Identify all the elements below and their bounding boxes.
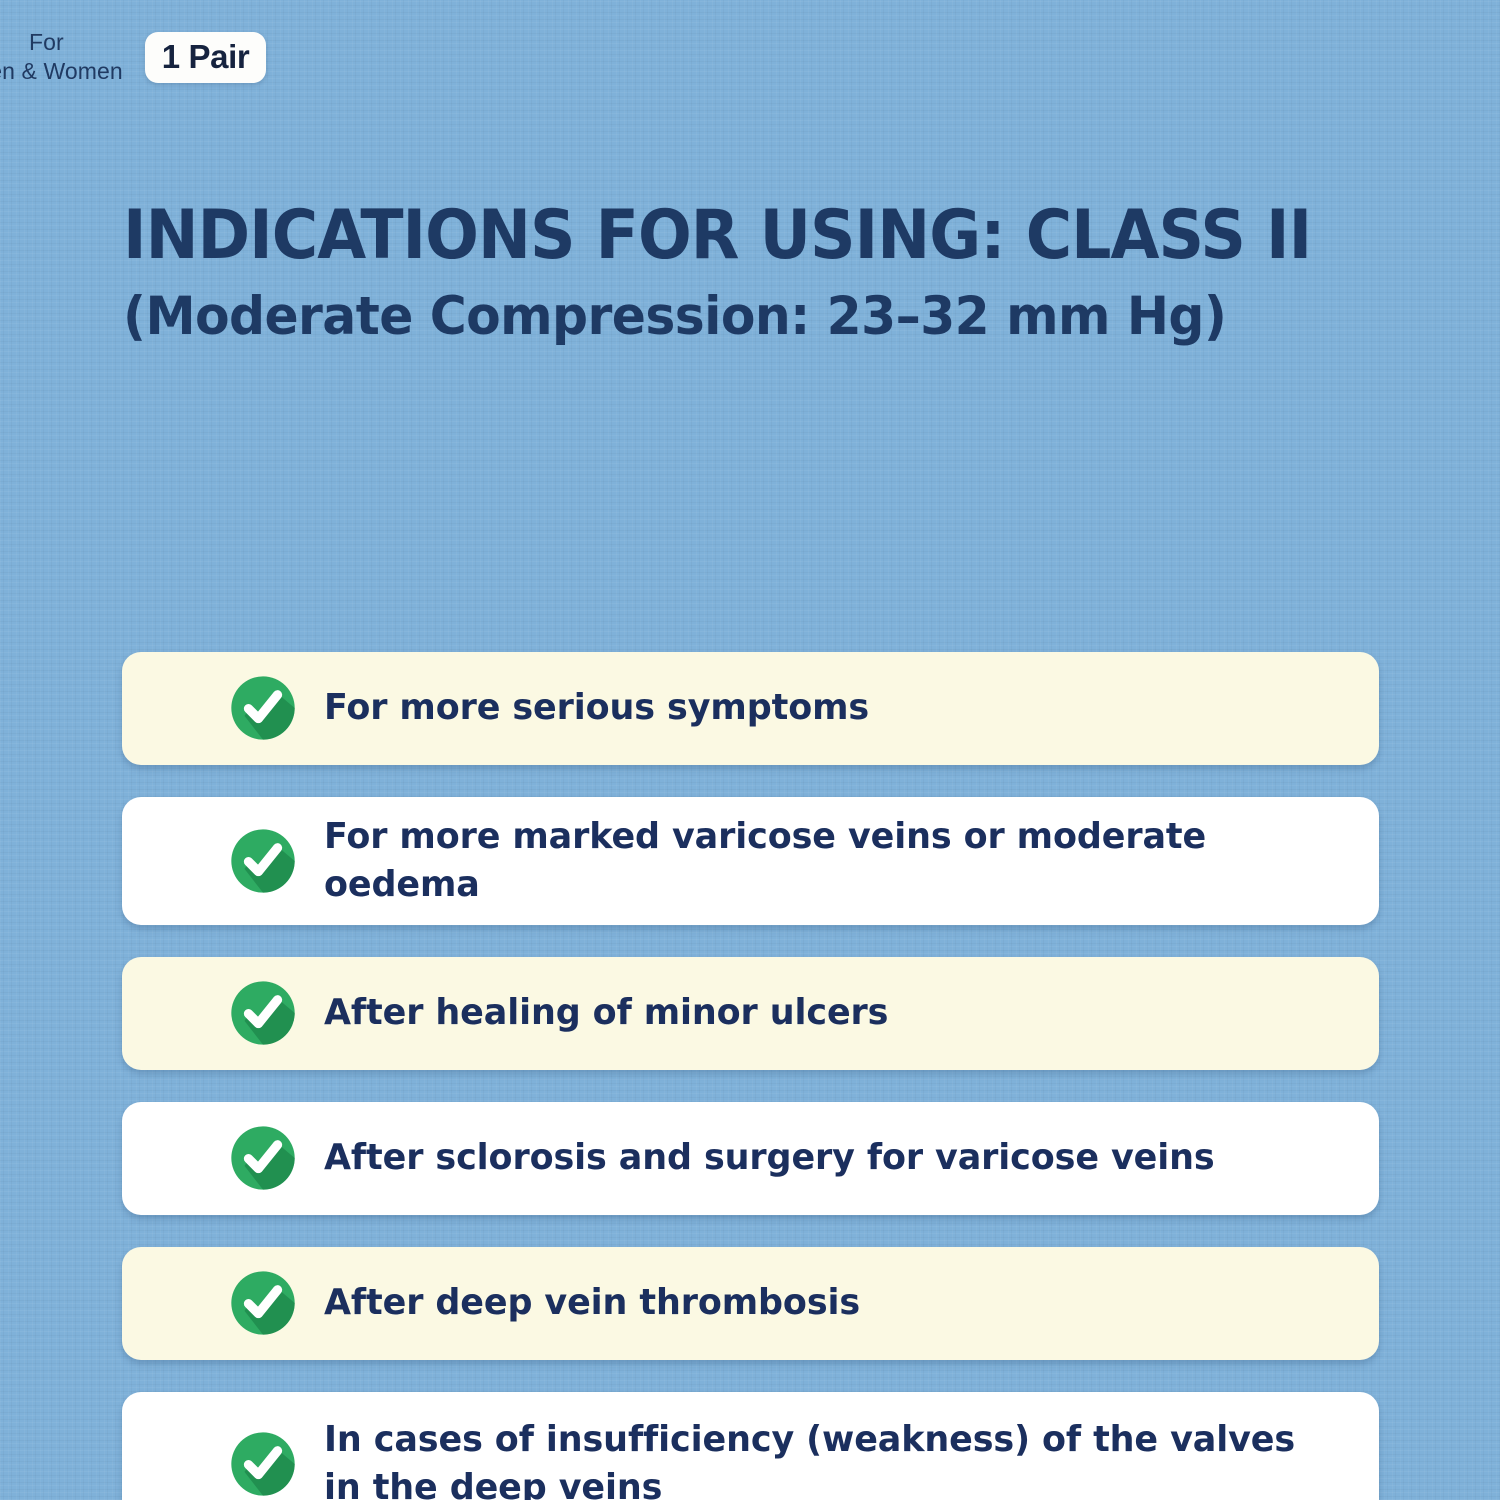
list-item: After healing of minor ulcers <box>122 957 1379 1070</box>
list-item-label: After healing of minor ulcers <box>324 989 888 1037</box>
list-item-label: After sclorosis and surgery for varicose… <box>324 1134 1215 1182</box>
list-item: After deep vein thrombosis <box>122 1247 1379 1360</box>
check-circle-icon <box>230 1431 296 1497</box>
poster-canvas: For Men & Women 1 Pair INDICATIONS FOR U… <box>0 0 1500 1500</box>
list-item-label: After deep vein thrombosis <box>324 1279 860 1327</box>
audience-label: For Men & Women <box>0 28 123 87</box>
list-item-label: In cases of insufficiency (weakness) of … <box>324 1416 1314 1500</box>
check-circle-icon <box>230 1270 296 1336</box>
page-subtitle: (Moderate Compression: 23–32 mm Hg) <box>123 290 1349 343</box>
list-item: In cases of insufficiency (weakness) of … <box>122 1392 1379 1500</box>
audience-line-1: For <box>0 28 123 57</box>
list-item: For more marked varicose veins or modera… <box>122 797 1379 925</box>
audience-line-2: Men & Women <box>0 57 123 86</box>
title-block: INDICATIONS FOR USING: CLASS II (Moderat… <box>123 202 1413 343</box>
list-item: After sclorosis and surgery for varicose… <box>122 1102 1379 1215</box>
list-item: For more serious symptoms <box>122 652 1379 765</box>
pair-quantity-badge: 1 Pair <box>145 32 267 83</box>
header-strip: For Men & Women 1 Pair <box>0 28 1470 87</box>
check-circle-icon <box>230 675 296 741</box>
check-circle-icon <box>230 1125 296 1191</box>
check-circle-icon <box>230 980 296 1046</box>
check-circle-icon <box>230 828 296 894</box>
page-title: INDICATIONS FOR USING: CLASS II <box>123 202 1323 270</box>
list-item-label: For more marked varicose veins or modera… <box>324 813 1314 909</box>
list-item-label: For more serious symptoms <box>324 684 869 732</box>
indications-list: For more serious symptoms For more marke… <box>122 652 1379 1500</box>
